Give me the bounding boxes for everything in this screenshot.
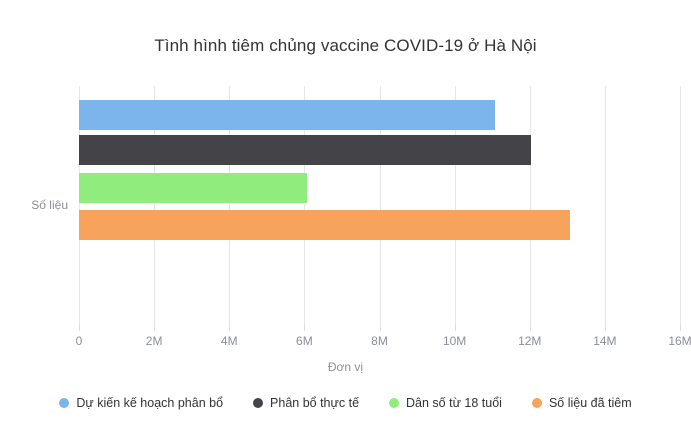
x-tick-mark-2M — [154, 325, 155, 331]
x-tick-label-6M: 6M — [274, 334, 334, 348]
legend-item-label: Dân số từ 18 tuổi — [406, 396, 502, 410]
gridline-14M — [605, 86, 606, 325]
legend-item-4[interactable]: Số liệu đã tiêm — [532, 396, 632, 410]
bar-series-3[interactable] — [79, 173, 307, 203]
legend-item-label: Dự kiến kế hoạch phân bổ — [76, 396, 223, 410]
x-tick-mark-12M — [530, 325, 531, 331]
chart-legend: Dự kiến kế hoạch phân bổPhân bổ thực tếD… — [0, 396, 691, 410]
bar-series-1[interactable] — [79, 100, 495, 130]
x-tick-label-0: 0 — [49, 334, 109, 348]
legend-item-label: Phân bổ thực tế — [270, 396, 359, 410]
x-tick-label-12M: 12M — [500, 334, 560, 348]
legend-marker-circle-icon — [532, 398, 542, 408]
x-tick-label-8M: 8M — [350, 334, 410, 348]
x-tick-mark-6M — [304, 325, 305, 331]
bar-series-2[interactable] — [79, 135, 531, 165]
x-tick-label-2M: 2M — [124, 334, 184, 348]
chart-container: Tình hình tiêm chủng vaccine COVID-19 ở … — [0, 0, 691, 444]
y-axis-category-label: Số liệu — [0, 198, 68, 212]
plot-area — [79, 86, 680, 325]
legend-marker-circle-icon — [59, 398, 69, 408]
x-tick-mark-0 — [79, 325, 80, 331]
x-tick-mark-4M — [229, 325, 230, 331]
gridline-16M — [680, 86, 681, 325]
x-tick-label-4M: 4M — [199, 334, 259, 348]
legend-item-1[interactable]: Dự kiến kế hoạch phân bổ — [59, 396, 223, 410]
chart-title: Tình hình tiêm chủng vaccine COVID-19 ở … — [0, 36, 691, 56]
x-tick-mark-8M — [380, 325, 381, 331]
x-tick-label-10M: 10M — [425, 334, 485, 348]
legend-item-label: Số liệu đã tiêm — [549, 396, 632, 410]
legend-item-2[interactable]: Phân bổ thực tế — [253, 396, 359, 410]
legend-marker-circle-icon — [253, 398, 263, 408]
gridline-12M — [530, 86, 531, 325]
bar-series-4[interactable] — [79, 210, 570, 240]
x-tick-label-14M: 14M — [575, 334, 635, 348]
legend-item-3[interactable]: Dân số từ 18 tuổi — [389, 396, 502, 410]
x-tick-mark-10M — [455, 325, 456, 331]
x-tick-mark-16M — [680, 325, 681, 331]
x-tick-mark-14M — [605, 325, 606, 331]
x-axis-title: Đơn vị — [0, 360, 691, 374]
legend-marker-circle-icon — [389, 398, 399, 408]
x-tick-label-16M: 16M — [650, 334, 691, 348]
